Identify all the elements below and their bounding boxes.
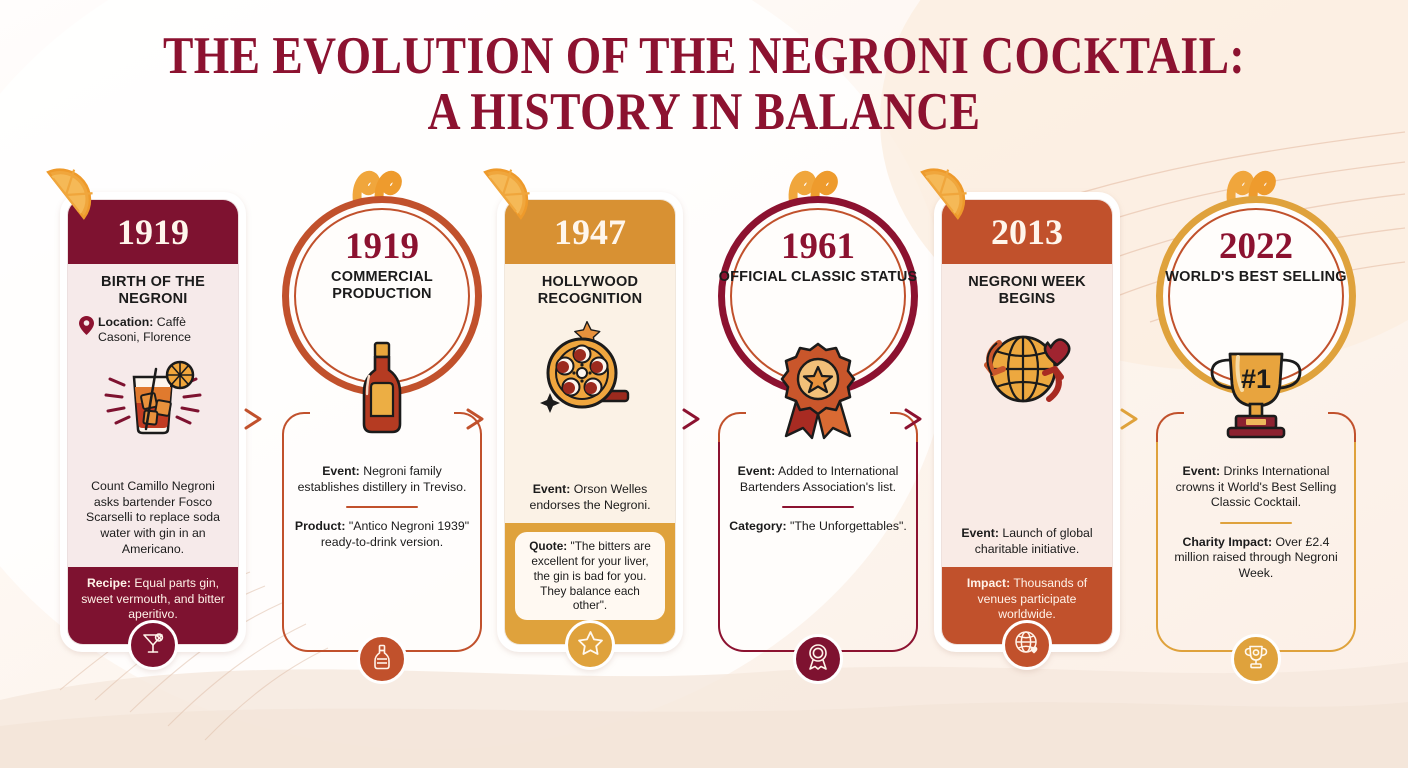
page-title: THE EVOLUTION OF THE NEGRONI COCKTAIL: A… — [0, 28, 1408, 140]
timeline-card-2013[interactable]: 2013 NEGRONI WEEK BEGINS Event: Launch o… — [934, 192, 1120, 652]
bottle-badge-icon — [370, 644, 394, 675]
card-description-1947: Event: Orson Welles endorses the Negroni… — [516, 482, 664, 513]
node-fact2-1919: Product: "Antico Negroni 1939" ready-to-… — [290, 519, 474, 550]
card-title-1947: HOLLYWOOD RECOGNITION — [516, 274, 664, 308]
node-year-1961: 1961 — [718, 228, 918, 265]
liquor-bottle-icon — [276, 340, 488, 436]
node-title-2022: WORLD'S BEST SELLING — [1156, 269, 1356, 286]
card-title-2013: NEGRONI WEEK BEGINS — [953, 274, 1101, 308]
node-badge-1961[interactable] — [793, 634, 843, 684]
card-description-2013: Event: Launch of global charitable initi… — [953, 526, 1101, 557]
title-line-2: A HISTORY IN BALANCE — [99, 84, 1310, 140]
svg-text:#1: #1 — [1241, 364, 1271, 394]
node-badge-2022[interactable] — [1231, 634, 1281, 684]
award-rosette-icon — [712, 340, 924, 442]
card-description-1919: Count Camillo Negroni asks bartender Fos… — [79, 479, 227, 557]
node-title-1919: COMMERCIAL PRODUCTION — [282, 269, 482, 303]
star-badge-icon — [577, 630, 604, 661]
node-divider-1961 — [782, 506, 854, 508]
node-divider-1919 — [346, 506, 418, 508]
node-fact1-2022: Event: Drinks International crowns it Wo… — [1164, 464, 1348, 511]
timeline-card-1919[interactable]: 1919 BIRTH OF THE NEGRONI Location: Caff… — [60, 192, 246, 652]
node-fact2-2022: Charity Impact: Over £2.4 million raised… — [1164, 535, 1348, 582]
card-year-1919: 1919 — [68, 200, 238, 264]
timeline-node-1919[interactable]: 1919 COMMERCIAL PRODUCTION Event: Negron… — [276, 182, 488, 682]
node-year-2022: 2022 — [1156, 228, 1356, 265]
cocktail-glass-icon — [104, 353, 202, 437]
node-fact1-1919: Event: Negroni family establishes distil… — [290, 464, 474, 495]
card-badge-2013[interactable] — [1002, 620, 1052, 670]
node-fact1-1961: Event: Added to International Bartenders… — [726, 464, 910, 495]
node-year-1919: 1919 — [282, 228, 482, 265]
cocktail-badge-icon — [140, 630, 166, 661]
card-year-2013: 2013 — [942, 200, 1112, 264]
film-reel-icon — [536, 321, 644, 417]
card-year-1947: 1947 — [505, 200, 675, 264]
card-title-1919: BIRTH OF THE NEGRONI — [79, 274, 227, 308]
globe-heart-icon — [977, 321, 1077, 413]
location-pin-icon — [79, 316, 94, 339]
trophy-badge-icon — [1243, 644, 1269, 675]
globe-badge-icon — [1014, 630, 1040, 661]
title-line-1: THE EVOLUTION OF THE NEGRONI COCKTAIL: — [99, 28, 1310, 84]
timeline-card-1947[interactable]: 1947 HOLLYWOOD RECOGNITION — [497, 192, 683, 652]
timeline-node-1961[interactable]: 1961 OFFICIAL CLASSIC STATUS Event: Adde… — [712, 182, 924, 682]
node-divider-2022 — [1220, 522, 1292, 524]
node-badge-1919[interactable] — [357, 634, 407, 684]
card-badge-1919[interactable] — [128, 620, 178, 670]
card-location-1919: Location: Caffè Casoni, Florence — [79, 315, 227, 345]
card-quote-1947: Quote: "The bitters are excellent for yo… — [515, 532, 665, 620]
timeline-row: 1919 BIRTH OF THE NEGRONI Location: Caff… — [0, 168, 1408, 708]
card-badge-1947[interactable] — [565, 620, 615, 670]
trophy-icon: #1 — [1150, 340, 1362, 440]
node-title-1961: OFFICIAL CLASSIC STATUS — [718, 269, 918, 286]
timeline-node-2022[interactable]: 2022 WORLD'S BEST SELLING #1 Event: Drin… — [1150, 182, 1362, 682]
rosette-badge-icon — [805, 643, 831, 675]
node-fact2-1961: Category: "The Unforgettables". — [726, 519, 910, 535]
